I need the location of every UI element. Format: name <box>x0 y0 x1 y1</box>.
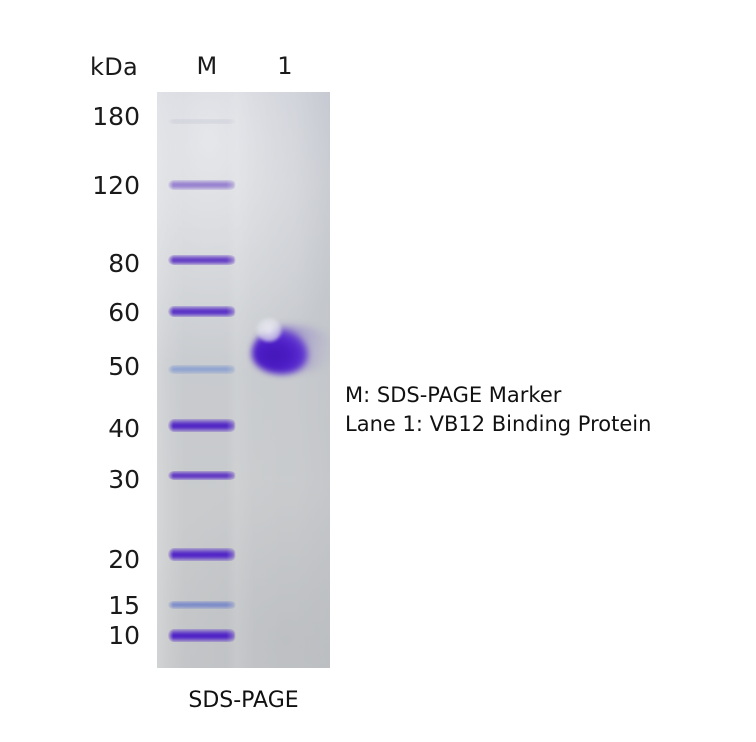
molecular-weight-axis: 1801208060504030201510 <box>60 0 140 742</box>
marker-band-20kda <box>168 548 236 561</box>
mw-label-120: 120 <box>60 173 140 198</box>
mw-label-60: 60 <box>60 300 140 325</box>
mw-label-30: 30 <box>60 467 140 492</box>
marker-band-30kda <box>168 471 236 480</box>
marker-band-10kda <box>168 629 236 642</box>
marker-band-15kda <box>168 601 236 609</box>
mw-label-50: 50 <box>60 354 140 379</box>
mw-label-180: 180 <box>60 104 140 129</box>
mw-label-15: 15 <box>60 593 140 618</box>
marker-band-40kda <box>168 419 236 432</box>
figure-caption: SDS-PAGE <box>157 688 330 713</box>
gel-image <box>157 92 330 668</box>
sample-band-bubble-artifact <box>256 318 282 342</box>
legend-line-marker: M: SDS-PAGE Marker <box>345 381 651 410</box>
marker-band-50kda <box>168 365 236 374</box>
marker-band-80kda <box>168 255 236 265</box>
mw-label-10: 10 <box>60 623 140 648</box>
marker-band-120kda <box>168 180 236 190</box>
lane-1-header-label: 1 <box>262 52 308 80</box>
sample-band-55kda <box>252 330 308 374</box>
marker-band-180kda <box>168 119 236 124</box>
lane-marker-header-label: M <box>182 52 232 80</box>
sds-page-figure: kDa M 1 1801208060504030201510 M: SDS-PA… <box>0 0 756 742</box>
mw-label-80: 80 <box>60 251 140 276</box>
lane-legend: M: SDS-PAGE Marker Lane 1: VB12 Binding … <box>345 381 651 439</box>
legend-line-sample: Lane 1: VB12 Binding Protein <box>345 410 651 439</box>
marker-band-60kda <box>168 306 236 317</box>
mw-label-20: 20 <box>60 547 140 572</box>
sample-band-tail <box>256 326 330 372</box>
mw-label-40: 40 <box>60 416 140 441</box>
